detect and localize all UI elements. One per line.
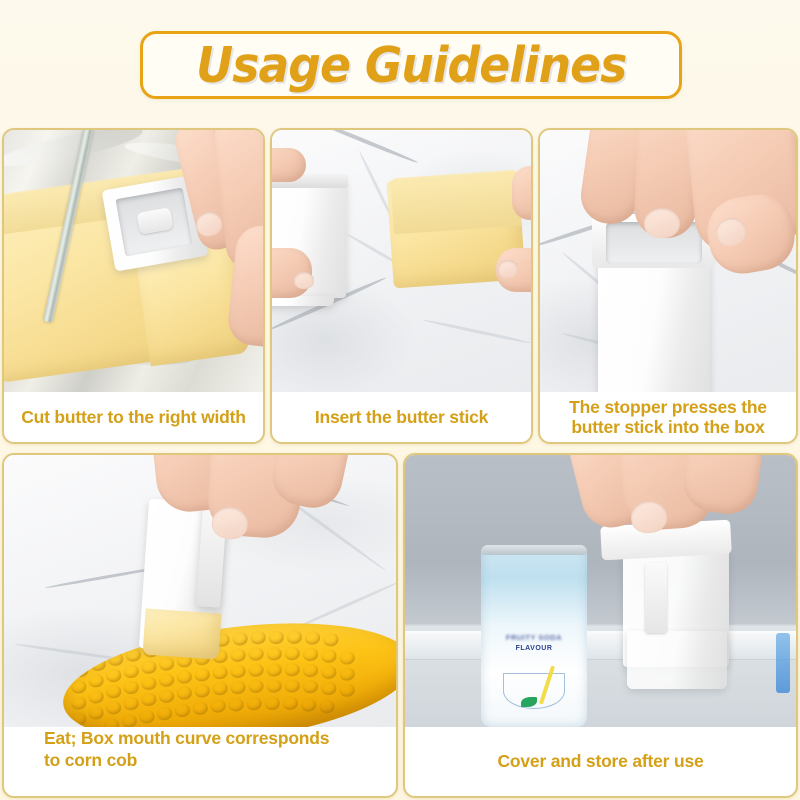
scene-insert-butter-stick bbox=[272, 130, 531, 392]
step-card-4: Eat; Box mouth curve corresponds to corn… bbox=[2, 453, 398, 798]
step-card-1: Cut butter to the right width bbox=[2, 128, 265, 444]
step-1-caption: Cut butter to the right width bbox=[4, 392, 263, 442]
step-4-caption: Eat; Box mouth curve corresponds to corn… bbox=[4, 727, 396, 796]
butter-box-device bbox=[598, 258, 710, 392]
finger bbox=[272, 148, 306, 182]
step-3-caption-line-1: The stopper presses the bbox=[569, 397, 767, 417]
can-lid bbox=[481, 545, 587, 555]
scene-cut-butter bbox=[4, 130, 263, 392]
scene-butter-corn-cob bbox=[4, 455, 396, 727]
step-card-5: FRUITY SODA FLAVOUR bbox=[403, 453, 798, 798]
step-card-2: Insert the butter stick bbox=[270, 128, 533, 444]
fridge-door-trim bbox=[776, 633, 790, 693]
step-2-caption: Insert the butter stick bbox=[272, 392, 531, 442]
can-label-flavour: FLAVOUR bbox=[481, 645, 587, 652]
finger bbox=[512, 166, 531, 220]
step-1-photo bbox=[4, 130, 263, 392]
step-4-caption-line-2: to corn cob bbox=[44, 749, 137, 771]
infographic-page: Usage Guidelines bbox=[0, 0, 800, 800]
fingernail bbox=[294, 272, 314, 289]
step-4-caption-line-1: Eat; Box mouth curve corresponds bbox=[44, 727, 329, 749]
scene-store-in-fridge: FRUITY SODA FLAVOUR bbox=[405, 455, 796, 727]
butter-box-stopper-tab bbox=[645, 563, 667, 633]
can-label-blurred: FRUITY SODA bbox=[481, 633, 587, 642]
fingernail bbox=[644, 208, 680, 238]
butter-in-box bbox=[142, 608, 221, 659]
step-2-photo bbox=[272, 130, 531, 392]
page-title-box: Usage Guidelines bbox=[140, 31, 682, 99]
page-title-container: Usage Guidelines bbox=[140, 31, 682, 99]
step-5-caption: Cover and store after use bbox=[405, 727, 796, 796]
fingernail bbox=[498, 260, 518, 278]
scene-press-stopper bbox=[540, 130, 796, 392]
step-4-photo bbox=[4, 455, 396, 727]
step-3-caption: The stopper presses the butter stick int… bbox=[540, 392, 796, 442]
step-3-caption-line-2: butter stick into the box bbox=[571, 417, 764, 437]
step-card-3: The stopper presses the butter stick int… bbox=[538, 128, 798, 444]
step-3-photo bbox=[540, 130, 796, 392]
butter-stick-top-face bbox=[390, 170, 522, 235]
beverage-can: FRUITY SODA FLAVOUR bbox=[481, 545, 587, 727]
fridge-shelf bbox=[405, 631, 796, 660]
page-title: Usage Guidelines bbox=[196, 41, 626, 90]
butter-box-lower-half bbox=[627, 631, 727, 689]
step-5-photo: FRUITY SODA FLAVOUR bbox=[405, 455, 796, 727]
